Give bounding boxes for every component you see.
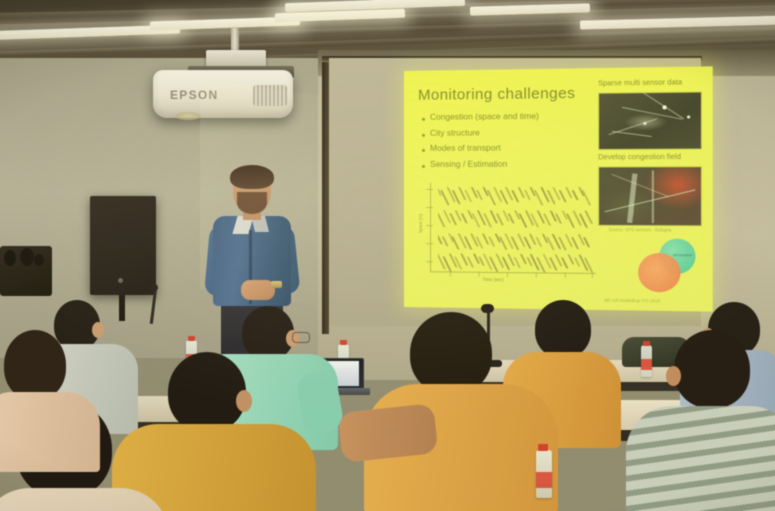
wall-speaker [90,196,156,295]
trajectory-line [488,237,495,247]
trajectory-line [482,233,489,244]
trajectory-band [438,253,594,273]
slide-bullet: Sensing / Estimation [422,160,586,170]
trajectory-line [561,257,568,268]
attendee-body [0,392,100,472]
speaker-logo-icon [118,278,123,283]
trajectory-line [502,210,509,221]
bullet-dot-icon [422,165,425,168]
trajectory-line [441,236,448,246]
logo-wordmark: senseable [673,253,692,257]
attendee-head [674,330,750,408]
trajectory-line [461,213,468,223]
trajectory-line [583,237,590,247]
slide-bullet-list: Congestion (space and time) City structu… [422,111,586,176]
congestion-field-image [598,166,702,226]
trajectory-line [513,257,520,268]
chart-x-label: Time (sec) [483,277,504,282]
trajectory-line [567,254,574,264]
slide-bullet: Modes of transport [422,143,586,153]
bullet-text: Sensing / Estimation [430,160,507,170]
trajectory-line [571,237,579,249]
space-time-chart: Space (m) Time (sec) [424,183,598,285]
trajectory-line [508,213,515,223]
lecture-room-photo: EPSON Monitoring challenges Congestion (… [0,0,775,511]
trajectory-band [438,231,594,250]
trajectory-line [458,187,466,200]
trajectory-line [438,233,442,244]
chart-y-label: Space (m) [418,214,423,233]
trajectory-line [454,256,462,269]
trajectory-line [523,237,531,249]
trajectory-line [571,190,578,200]
trajectory-line [585,210,593,223]
attendee-body [626,406,775,511]
attendee-arm [338,403,439,463]
trajectory-line [520,254,527,264]
bullet-dot-icon [422,149,425,152]
screen-frame-left [322,62,329,334]
attendee-body [0,488,170,511]
trajectory-line [460,253,468,265]
presentation-slide: Monitoring challenges Congestion (space … [404,66,713,311]
trajectory-line [507,254,515,266]
attendee-striped-polo [630,330,775,511]
trajectory-line [543,213,551,225]
camera-rig [0,246,52,296]
trajectory-line [489,210,497,223]
trajectory-line [565,187,572,198]
trajectory-band [438,187,594,205]
slide-image-credit: Source: GPS sensors - Bologna [609,227,672,232]
attendee-head [168,352,246,432]
water-bottle [536,450,552,498]
trajectory-line [523,190,530,200]
trajectory-line [496,213,504,225]
trajectory-line [449,213,457,225]
trajectory-line [564,234,572,247]
projector-lens [175,112,201,120]
attendee-orange-tee [368,312,553,511]
trajectory-line [555,213,562,223]
projector-vent [253,85,287,106]
bullet-text: Congestion (space and time) [430,112,539,122]
projector-brand-label: EPSON [170,88,219,102]
presenter-hands [241,280,275,300]
trajectory-line [455,210,462,221]
bullet-text: Modes of transport [430,144,501,154]
attendee-head [410,312,492,394]
trajectory-line [549,257,557,270]
attendee-ear [236,390,252,412]
attendee-ear [666,366,681,386]
presenter-hair [230,165,274,189]
trajectory-line [574,257,580,266]
trajectory-line [559,190,567,202]
trajectory-band [438,209,594,228]
senseable-logo: senseable [638,238,695,292]
attendee-far-left-woman [0,330,96,460]
slide-image-caption-top: Sparse multi sensor data [598,77,682,87]
trajectory-line [511,190,519,202]
trajectory-line [505,187,513,200]
microphone-icon [148,284,158,291]
presenter-beard [237,192,267,214]
trajectory-line [535,237,542,247]
slide-image-caption-bottom: Develop congestion field [598,152,681,162]
trajectory-line [476,236,484,248]
trajectory-line [443,210,451,223]
trajectory-line [466,257,473,268]
trajectory-line [476,190,483,200]
logo-orange-circle [638,253,681,293]
trajectory-line [464,190,472,202]
trajectory-line [529,234,536,245]
trajectory-line [438,213,445,227]
trajectory-line [555,254,563,266]
trajectory-line [582,190,592,205]
trajectory-line [577,234,584,245]
trajectory-line [440,190,449,205]
bullet-text: City structure [430,128,480,138]
slide-bullet: City structure [422,127,586,138]
chart-y-axis [430,183,431,271]
attendee-head [4,330,66,400]
presenter-wristwatch [271,281,282,288]
bullet-dot-icon [422,134,425,137]
bullet-dot-icon [422,118,425,121]
trajectory-line [537,210,545,223]
trajectory-line [517,234,525,247]
trajectory-line [517,187,524,198]
slide-title: Monitoring challenges [418,85,575,104]
trajectory-line [473,254,480,264]
attendee-glasses-icon [292,332,310,343]
slide-bullet: Congestion (space and time) [422,111,586,122]
trajectory-line [501,257,509,270]
sparse-sensor-map-image [598,91,702,150]
